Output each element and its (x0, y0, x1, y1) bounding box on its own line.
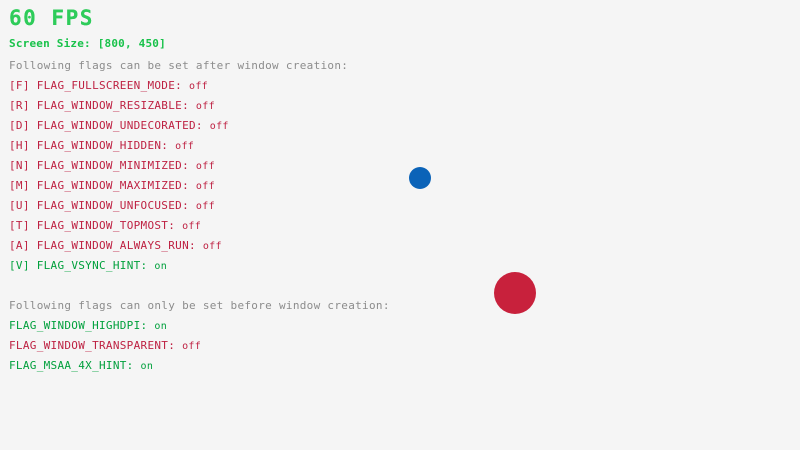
fps-counter: 60 FPS (9, 8, 94, 29)
flag-value: off (210, 121, 229, 132)
flag-name: FLAG_WINDOW_UNFOCUSED: (37, 199, 196, 212)
flag-value: off (182, 221, 201, 232)
flag-value: off (196, 201, 215, 212)
flag-row-flag-window-always-run[interactable]: [A] FLAG_WINDOW_ALWAYS_RUN: off (9, 240, 222, 252)
flag-shortcut-key: [D] (9, 119, 37, 132)
flag-value: off (196, 101, 215, 112)
flag-name: FLAG_VSYNC_HINT: (37, 259, 155, 272)
section-header-runtime-flags: Following flags can be set after window … (9, 60, 348, 71)
flag-name: FLAG_WINDOW_ALWAYS_RUN: (37, 239, 203, 252)
flag-shortcut-key: [A] (9, 239, 37, 252)
flag-shortcut-key: [F] (9, 79, 37, 92)
flag-value: on (141, 361, 154, 372)
flag-row-flag-window-minimized[interactable]: [N] FLAG_WINDOW_MINIMIZED: off (9, 160, 215, 172)
flag-name: FLAG_WINDOW_RESIZABLE: (37, 99, 196, 112)
flag-name: FLAG_WINDOW_UNDECORATED: (37, 119, 210, 132)
ball-red-circle (494, 272, 536, 314)
flag-value: off (189, 81, 208, 92)
flag-row-flag-window-highdpi[interactable]: FLAG_WINDOW_HIGHDPI: on (9, 320, 167, 332)
flag-name: FLAG_MSAA_4X_HINT: (9, 359, 141, 372)
flag-name: FLAG_WINDOW_MINIMIZED: (37, 159, 196, 172)
flag-row-flag-window-undecorated[interactable]: [D] FLAG_WINDOW_UNDECORATED: off (9, 120, 229, 132)
flag-row-flag-window-transparent[interactable]: FLAG_WINDOW_TRANSPARENT: off (9, 340, 201, 352)
flag-row-flag-msaa-4x-hint[interactable]: FLAG_MSAA_4X_HINT: on (9, 360, 153, 372)
flag-row-flag-fullscreen-mode[interactable]: [F] FLAG_FULLSCREEN_MODE: off (9, 80, 208, 92)
flag-shortcut-key: [H] (9, 139, 37, 152)
flag-row-flag-vsync-hint[interactable]: [V] FLAG_VSYNC_HINT: on (9, 260, 167, 272)
flag-name: FLAG_WINDOW_HIGHDPI: (9, 319, 154, 332)
flag-name: FLAG_WINDOW_HIDDEN: (37, 139, 175, 152)
flag-value: off (196, 161, 215, 172)
flag-name: FLAG_FULLSCREEN_MODE: (37, 79, 189, 92)
screen-size-label: Screen Size: [800, 450] (9, 38, 166, 49)
flag-shortcut-key: [M] (9, 179, 37, 192)
flag-row-flag-window-resizable[interactable]: [R] FLAG_WINDOW_RESIZABLE: off (9, 100, 215, 112)
flag-name: FLAG_WINDOW_TRANSPARENT: (9, 339, 182, 352)
flag-value: off (182, 341, 201, 352)
flag-row-flag-window-unfocused[interactable]: [U] FLAG_WINDOW_UNFOCUSED: off (9, 200, 215, 212)
flag-value: on (154, 261, 167, 272)
flag-shortcut-key: [V] (9, 259, 37, 272)
flag-value: on (154, 321, 167, 332)
flag-row-flag-window-maximized[interactable]: [M] FLAG_WINDOW_MAXIMIZED: off (9, 180, 215, 192)
flag-value: off (203, 241, 222, 252)
flag-shortcut-key: [T] (9, 219, 37, 232)
flag-shortcut-key: [R] (9, 99, 37, 112)
flag-shortcut-key: [N] (9, 159, 37, 172)
ball-blue-circle (409, 167, 431, 189)
flag-name: FLAG_WINDOW_MAXIMIZED: (37, 179, 196, 192)
section-header-startup-flags: Following flags can only be set before w… (9, 300, 390, 311)
flag-value: off (175, 141, 194, 152)
flag-name: FLAG_WINDOW_TOPMOST: (37, 219, 182, 232)
flag-value: off (196, 181, 215, 192)
raylib-window-canvas[interactable]: 60 FPS Screen Size: [800, 450] Following… (0, 0, 800, 450)
flag-row-flag-window-topmost[interactable]: [T] FLAG_WINDOW_TOPMOST: off (9, 220, 201, 232)
flag-shortcut-key: [U] (9, 199, 37, 212)
flag-row-flag-window-hidden[interactable]: [H] FLAG_WINDOW_HIDDEN: off (9, 140, 194, 152)
